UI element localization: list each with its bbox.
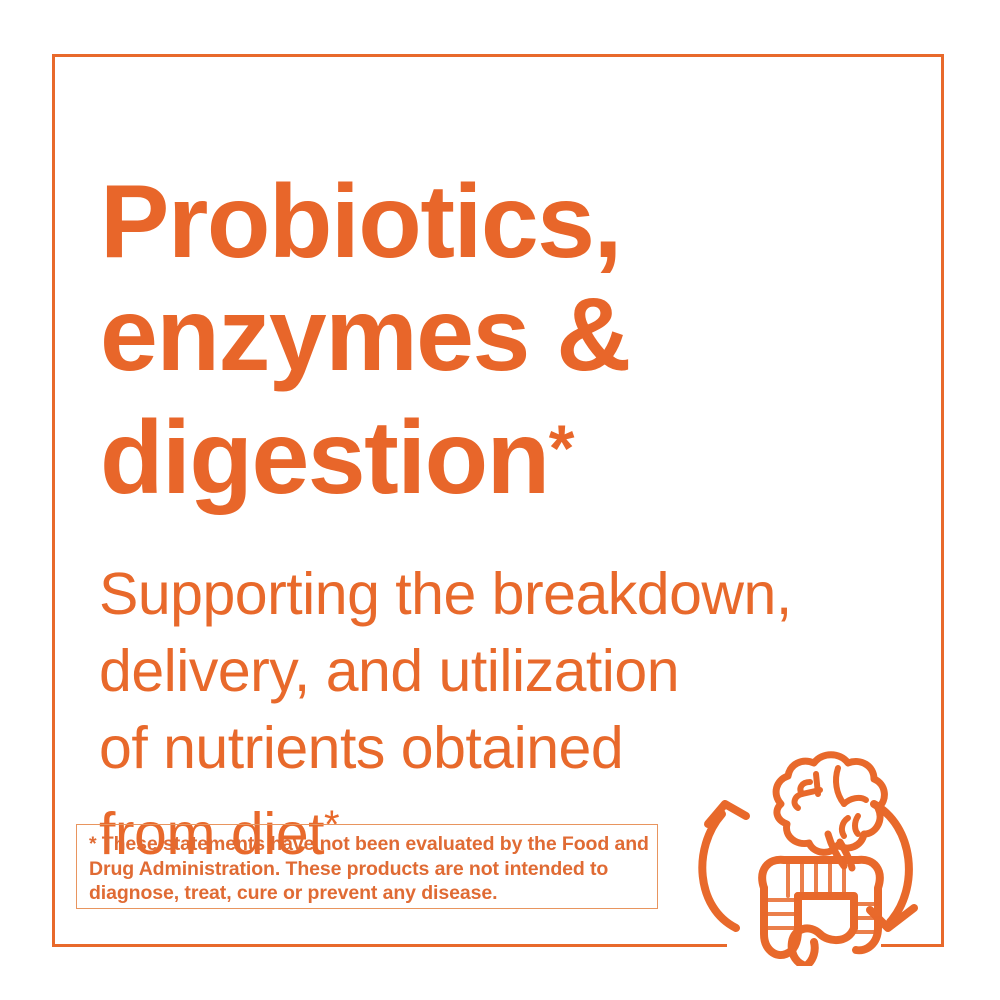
poster-canvas: Probiotics, enzymes & digestion* Support… [0,0,1000,1000]
disclaimer-text: * These statements have not been evaluat… [89,832,649,906]
subhead-line-3: of nutrients obtained [99,715,623,781]
subhead-line-2: delivery, and utilization [99,638,679,704]
headline-line-2: enzymes & [100,277,630,393]
frame-border-bottom-left [52,944,727,947]
subhead-line-1: Supporting the breakdown, [99,561,792,627]
arrow-left-up [702,804,746,928]
page-title: Probiotics, enzymes & digestion* [100,166,800,515]
headline-line-3: digestion [100,400,549,516]
colon-shape [762,860,880,966]
headline-line-1: Probiotics, [100,164,621,280]
headline-footnote-marker: * [549,411,575,485]
gut-brain-axis-icon [688,738,948,966]
frame-border-left [52,54,55,947]
frame-border-top [52,54,944,57]
brain-shape [776,755,884,868]
disclaimer-box: * These statements have not been evaluat… [76,824,658,909]
